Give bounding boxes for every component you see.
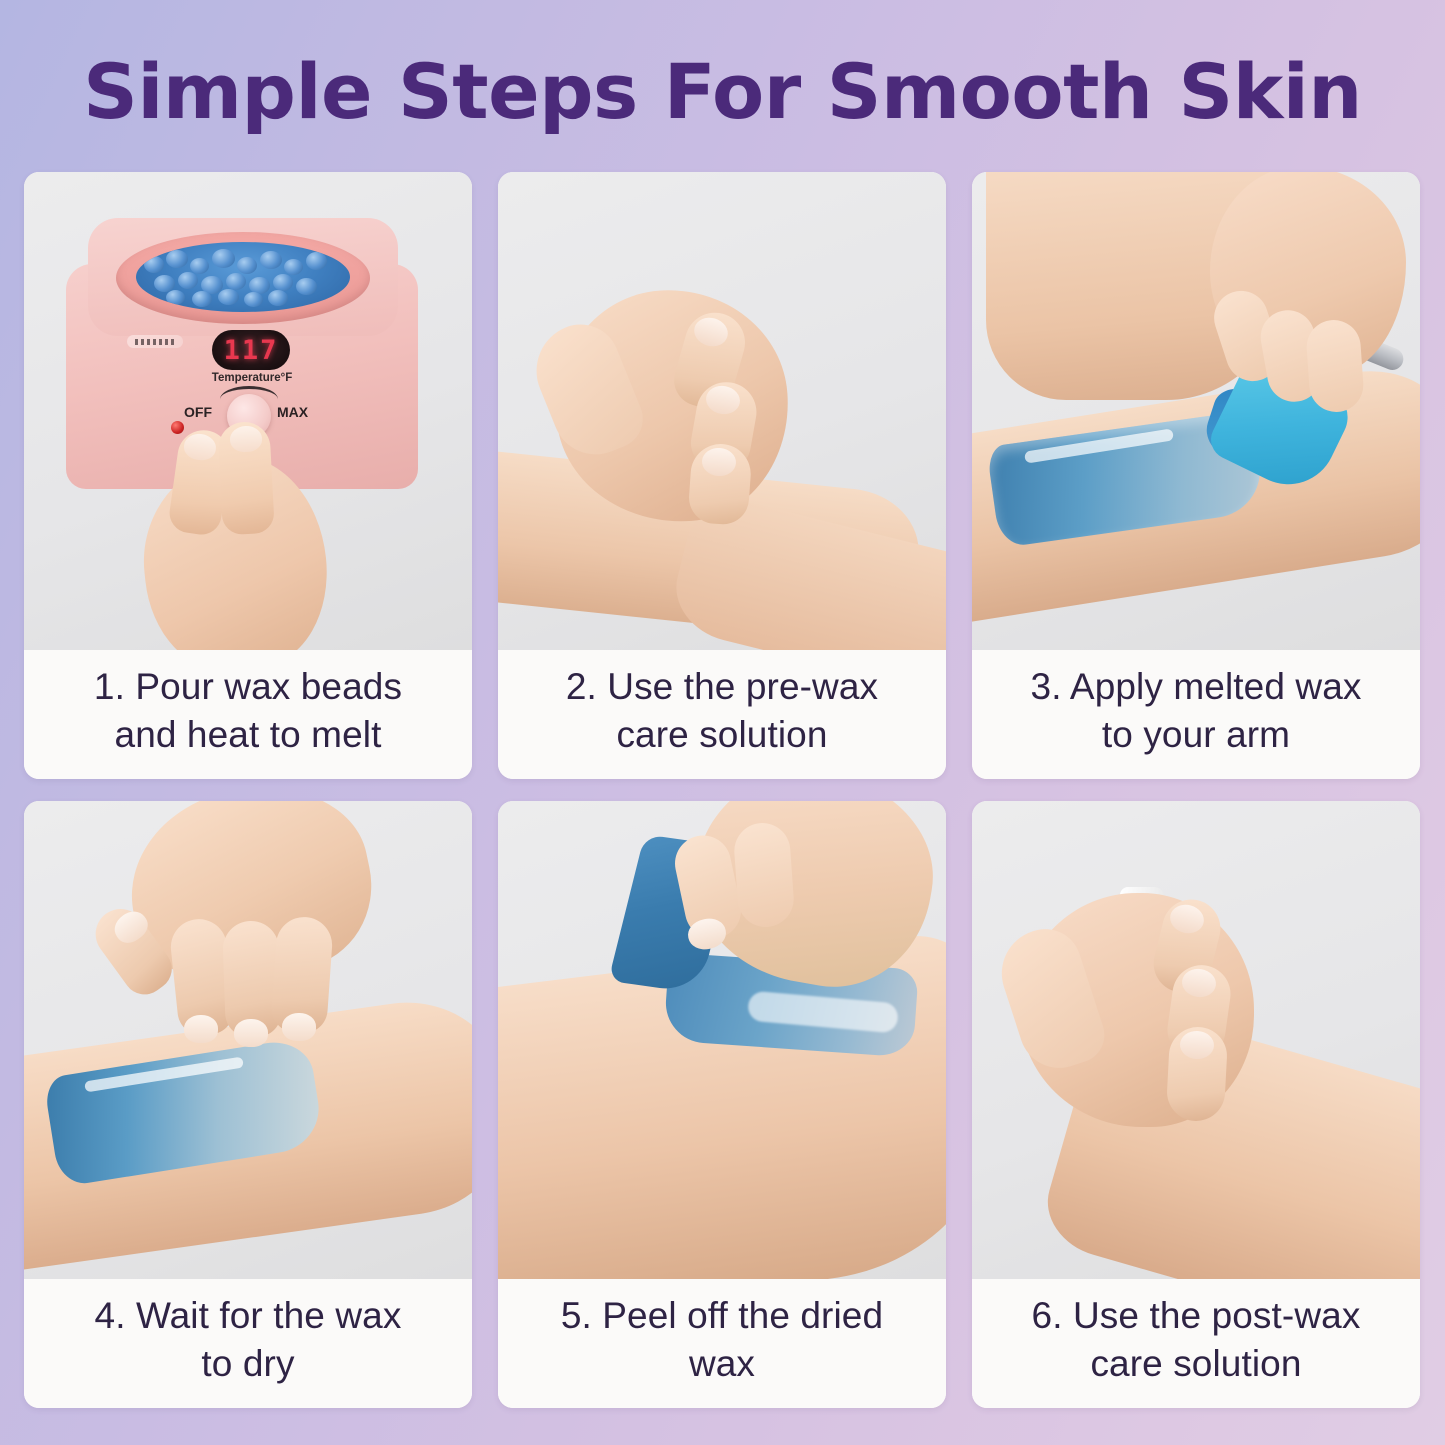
step-2-photo [498, 172, 946, 650]
step-6-caption: 6. Use the post-wax care solution [972, 1279, 1420, 1408]
step-card-4: 4. Wait for the wax to dry [24, 801, 472, 1408]
finger [732, 821, 795, 929]
caption-line-1: 5. Peel off the dried [561, 1295, 883, 1336]
dial-off-label: OFF [184, 404, 212, 420]
step-card-2: 2. Use the pre-wax care solution [498, 172, 946, 779]
step-3-photo [972, 172, 1420, 650]
step-card-6: 6. Use the post-wax care solution [972, 801, 1420, 1408]
caption-text: 4. Wait for the wax to dry [95, 1292, 402, 1388]
caption-line-1: 3. Apply melted wax [1031, 666, 1362, 707]
wax-bead-pot [136, 242, 350, 312]
step-4-caption: 4. Wait for the wax to dry [24, 1279, 472, 1408]
caption-text: 5. Peel off the dried wax [561, 1292, 883, 1388]
caption-line-2: to dry [201, 1343, 294, 1384]
caption-line-1: 2. Use the pre-wax [566, 666, 878, 707]
step-2-caption: 2. Use the pre-wax care solution [498, 650, 946, 779]
step-5-caption: 5. Peel off the dried wax [498, 1279, 946, 1408]
step-1-photo: 117 Temperature°F OFF MAX [24, 172, 472, 650]
step-6-photo [972, 801, 1420, 1279]
page-title: Simple Steps For Smooth Skin [0, 44, 1445, 140]
fingernail [282, 1013, 316, 1041]
caption-text: 3. Apply melted wax to your arm [1031, 663, 1362, 759]
step-card-1: 117 Temperature°F OFF MAX 1. Pour wax be… [24, 172, 472, 779]
fingernail [184, 1015, 218, 1043]
temperature-display: 117 [212, 330, 290, 370]
temperature-value: 117 [224, 335, 279, 366]
step-1-caption: 1. Pour wax beads and heat to melt [24, 650, 472, 779]
caption-line-2: and heat to melt [115, 714, 382, 755]
step-3-caption: 3. Apply melted wax to your arm [972, 650, 1420, 779]
finger [1305, 318, 1365, 414]
temperature-label: Temperature°F [204, 372, 300, 384]
caption-text: 1. Pour wax beads and heat to melt [94, 663, 402, 759]
fingernail [234, 1019, 268, 1047]
power-indicator-light [171, 421, 184, 434]
caption-line-1: 6. Use the post-wax [1032, 1295, 1361, 1336]
caption-line-1: 1. Pour wax beads [94, 666, 402, 707]
caption-text: 6. Use the post-wax care solution [1032, 1292, 1361, 1388]
caption-line-2: wax [689, 1343, 755, 1384]
step-card-3: 3. Apply melted wax to your arm [972, 172, 1420, 779]
step-4-photo [24, 801, 472, 1279]
caption-line-2: to your arm [1102, 714, 1290, 755]
steps-grid: 117 Temperature°F OFF MAX 1. Pour wax be… [24, 172, 1421, 1408]
caption-line-2: care solution [1090, 1343, 1301, 1384]
dial-max-label: MAX [277, 404, 308, 420]
caption-text: 2. Use the pre-wax care solution [566, 663, 878, 759]
step-5-photo [498, 801, 946, 1279]
warmer-brand-logo [127, 335, 183, 348]
caption-line-1: 4. Wait for the wax [95, 1295, 402, 1336]
step-card-5: 5. Peel off the dried wax [498, 801, 946, 1408]
caption-line-2: care solution [616, 714, 827, 755]
